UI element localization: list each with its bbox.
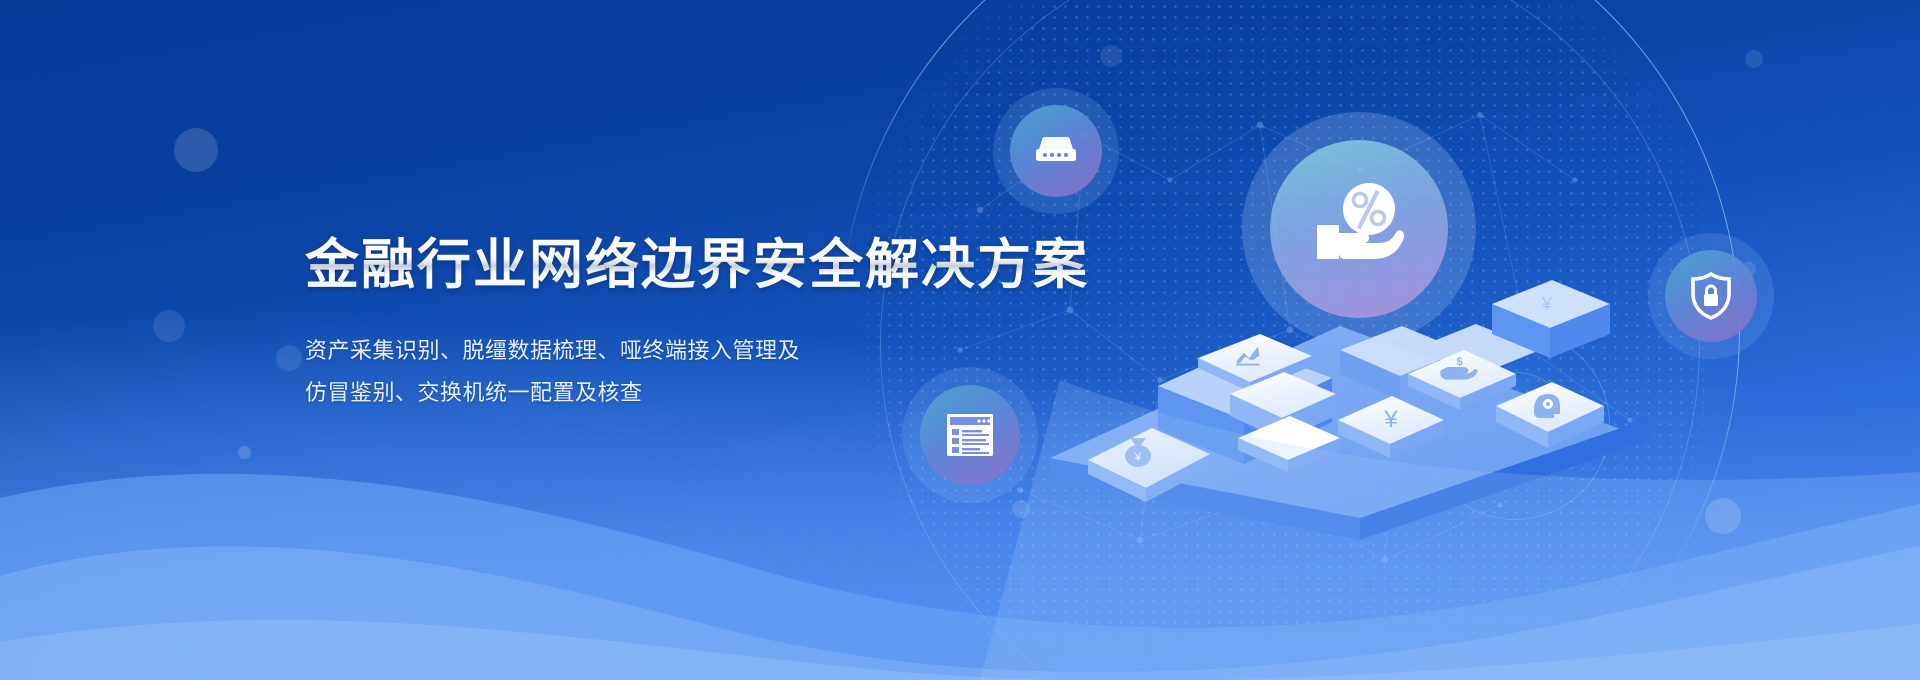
- shield-lock-icon: [1689, 272, 1733, 320]
- shield-lock-orb[interactable]: [1665, 250, 1757, 342]
- document-list-icon: [946, 413, 994, 457]
- network-switch-icon: [1033, 136, 1079, 166]
- yen-block-glyph: ¥: [1541, 294, 1553, 314]
- subtitle-line-2: 仿冒鉴别、交换机统一配置及核查: [305, 372, 1089, 414]
- percent-hand-icon: [1307, 181, 1411, 277]
- decorative-bubble: [153, 310, 185, 342]
- banner-copy: 金融行业网络边界安全解决方案 资产采集识别、脱缰数据梳理、哑终端接入管理及 仿冒…: [305, 236, 1089, 414]
- page-subtitle: 资产采集识别、脱缰数据梳理、哑终端接入管理及 仿冒鉴别、交换机统一配置及核查: [305, 330, 1089, 414]
- svg-text:$: $: [1457, 356, 1463, 368]
- decorative-bubble: [1745, 50, 1763, 68]
- subtitle-line-1: 资产采集识别、脱缰数据梳理、哑终端接入管理及: [305, 330, 1089, 372]
- network-switch-orb[interactable]: [1010, 105, 1102, 197]
- decorative-bubble: [174, 128, 218, 172]
- wave-right-sheet: [980, 380, 1920, 680]
- financial-security-banner: ¥ ¥: [0, 0, 1920, 680]
- decorative-bubble: [1100, 45, 1122, 67]
- page-title: 金融行业网络边界安全解决方案: [305, 236, 1089, 294]
- decorative-bubble: [276, 345, 302, 371]
